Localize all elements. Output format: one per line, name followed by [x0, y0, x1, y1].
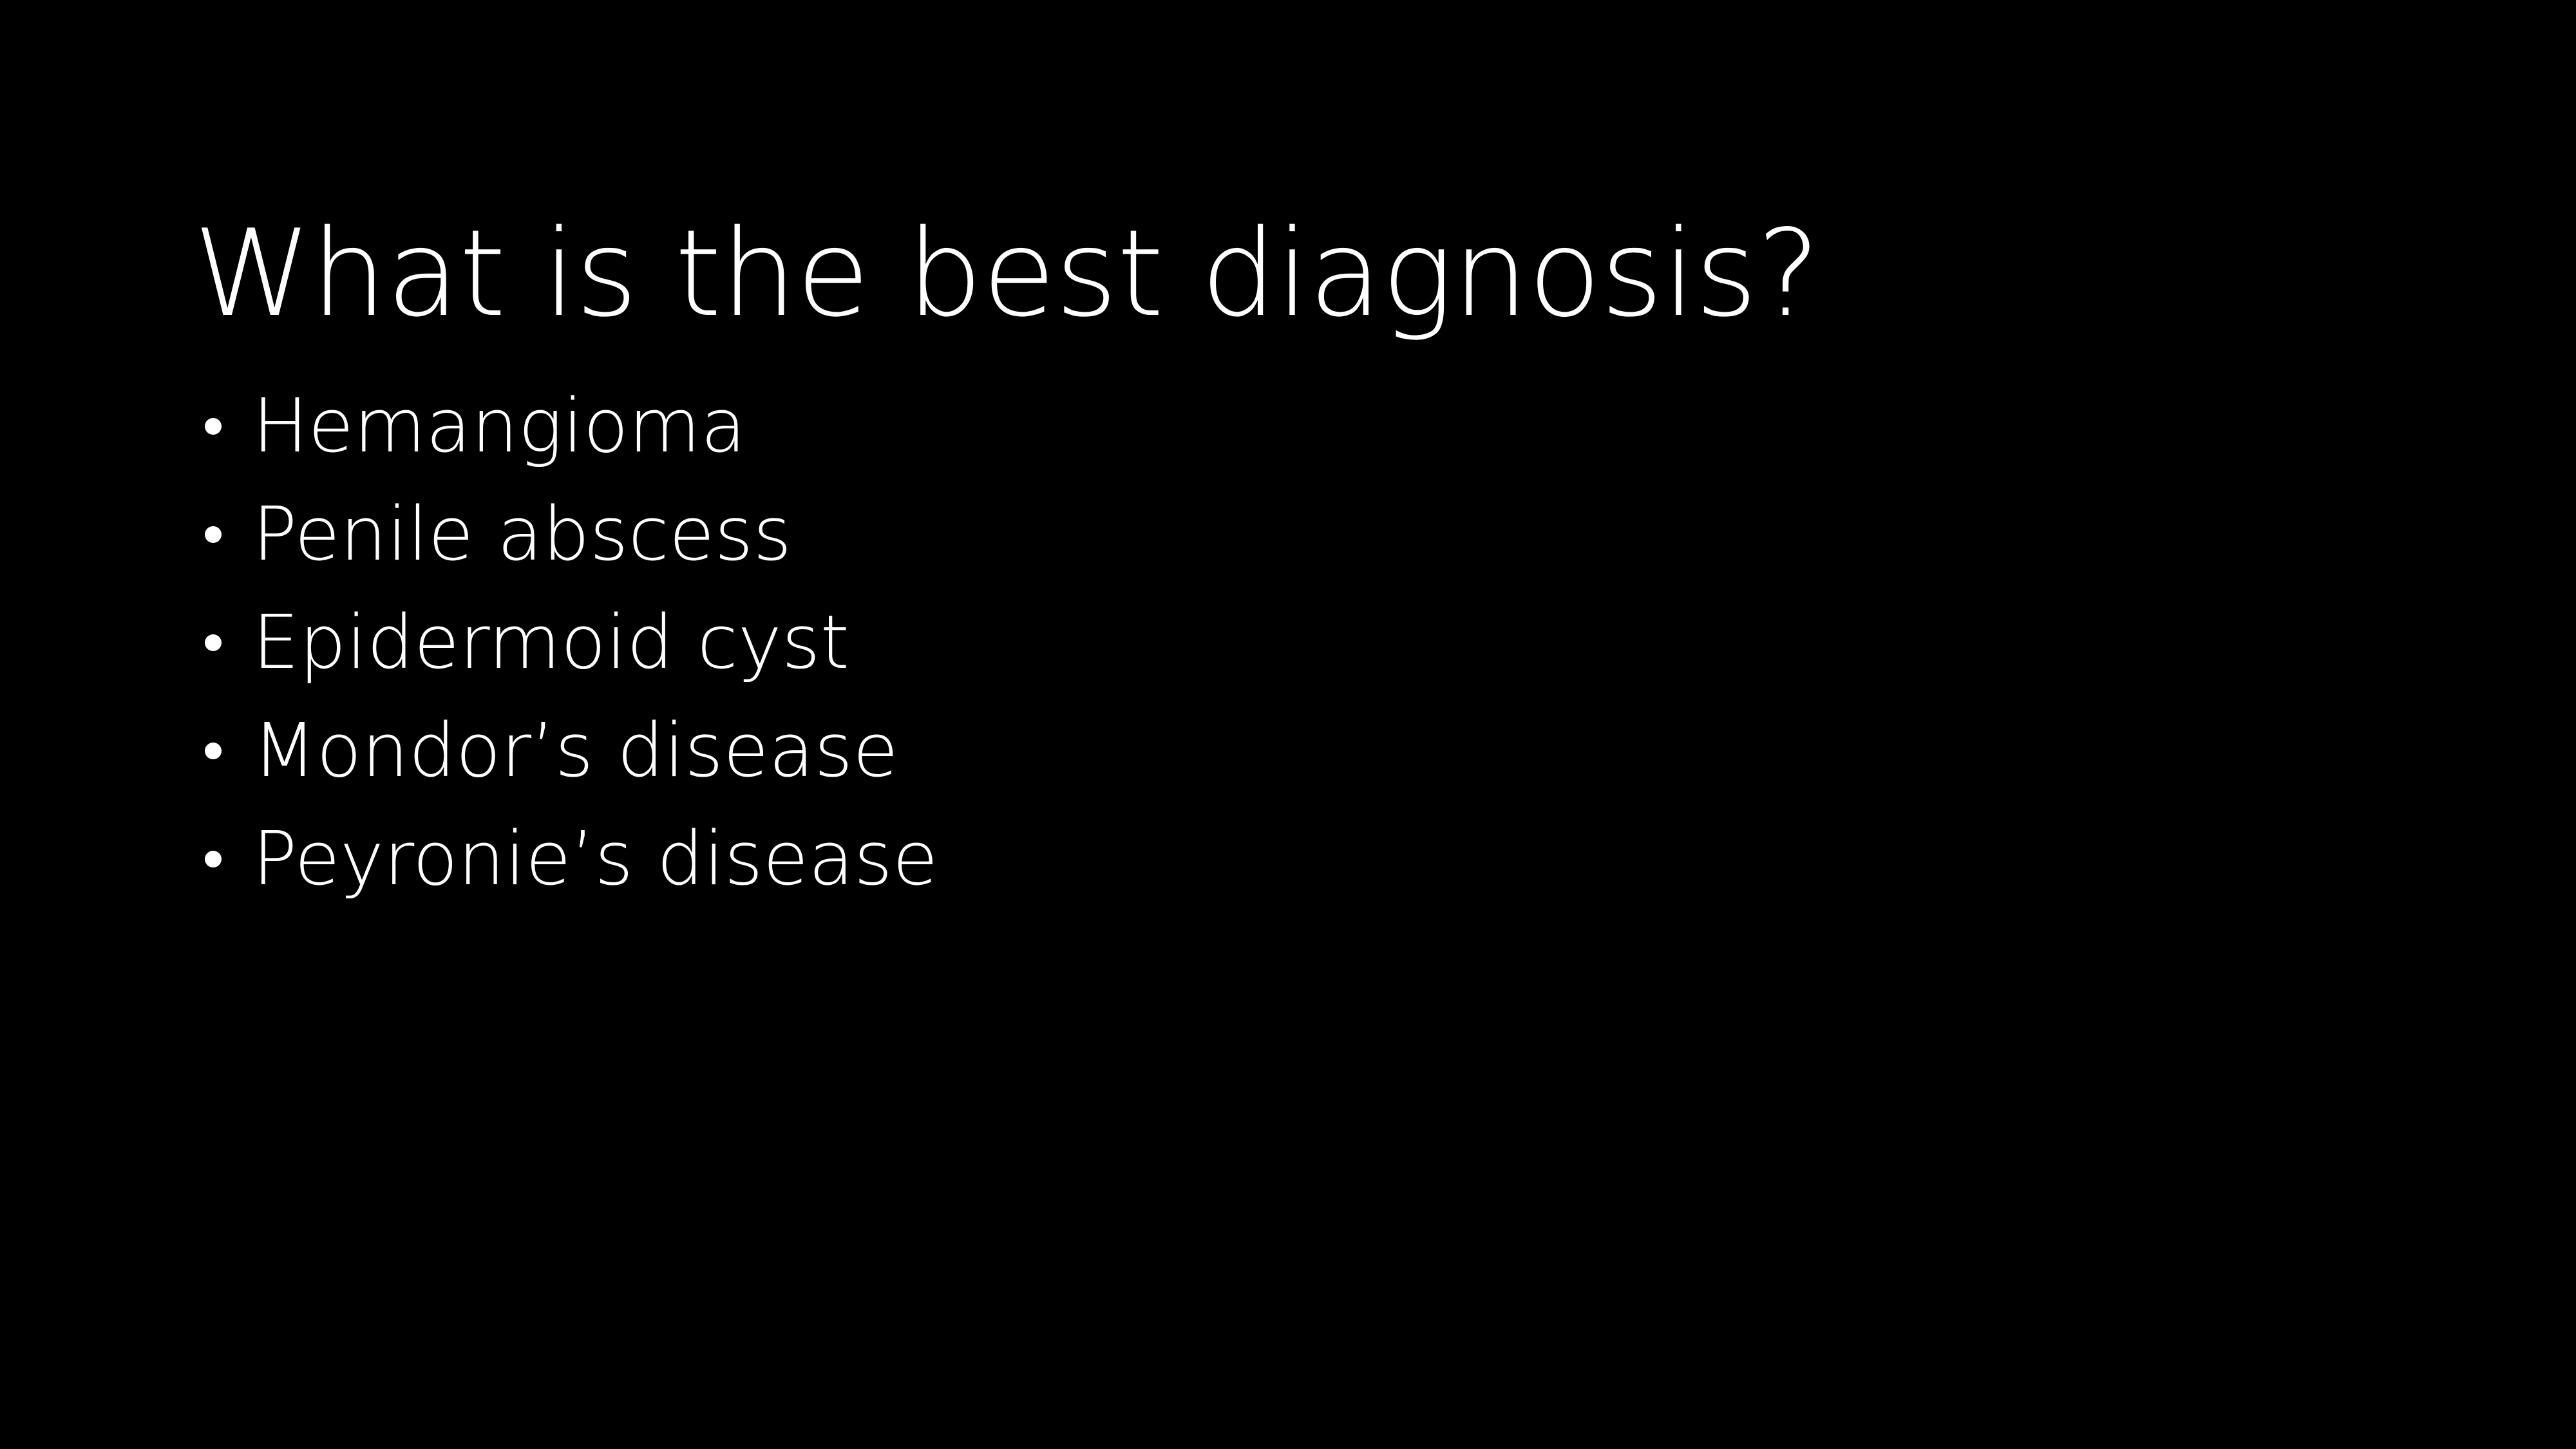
list-item[interactable]: Penile abscess: [193, 480, 2383, 589]
bullet-dot-icon: [205, 418, 222, 435]
list-item-label: Penile abscess: [252, 480, 791, 589]
bullet-dot-icon: [205, 526, 222, 543]
list-item[interactable]: Hemangioma: [193, 372, 2383, 480]
bullet-dot-icon: [205, 634, 222, 651]
bullet-dot-icon: [205, 851, 222, 867]
diagnosis-options-list: Hemangioma Penile abscess Epidermoid cys…: [193, 372, 2383, 913]
list-item-label: Peyronie’s disease: [252, 805, 938, 913]
list-item-label: Epidermoid cyst: [252, 589, 849, 697]
list-item[interactable]: Epidermoid cyst: [193, 589, 2383, 697]
list-item-label: Mondor’s disease: [252, 697, 898, 805]
presentation-slide: What is the best diagnosis? Hemangioma P…: [0, 0, 2576, 1449]
list-item[interactable]: Peyronie’s disease: [193, 805, 2383, 913]
list-item-label: Hemangioma: [252, 372, 746, 480]
page-title: What is the best diagnosis?: [193, 209, 2383, 339]
bullet-dot-icon: [205, 743, 222, 759]
list-item[interactable]: Mondor’s disease: [193, 697, 2383, 805]
